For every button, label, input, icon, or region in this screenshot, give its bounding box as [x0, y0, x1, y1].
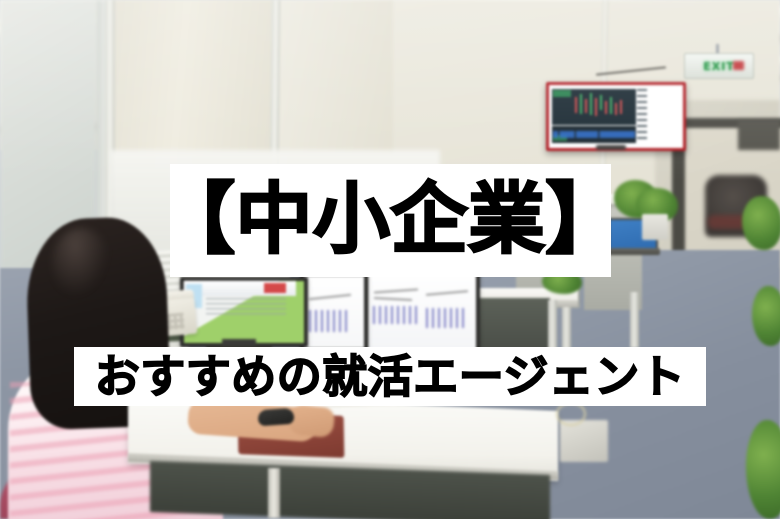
candlestick: [610, 97, 612, 114]
candlestick: [575, 97, 577, 113]
desk-leg: [630, 292, 639, 348]
tv-wall-mount: [596, 145, 626, 150]
candlestick: [580, 94, 582, 114]
monitor-right: [364, 268, 480, 354]
desk-leg: [268, 468, 280, 518]
exit-sign-label: EXIT: [703, 60, 735, 73]
pillar: [273, 0, 393, 170]
candlestick: [600, 95, 602, 110]
candlestick: [620, 100, 622, 114]
monitor-middle: [300, 272, 368, 352]
door-header: [738, 120, 780, 150]
candlestick: [615, 103, 617, 115]
computer-tower: [560, 420, 608, 462]
tv-price-scale: [637, 89, 647, 143]
candlestick: [605, 101, 607, 114]
exit-sign: EXIT: [684, 53, 754, 79]
plant-pot: [642, 214, 668, 240]
tv-line-series: [553, 131, 635, 138]
candlestick: [590, 93, 592, 115]
thumbnail-image: EXIT: [0, 0, 780, 519]
exit-sign-arrow: [733, 61, 744, 70]
monitor-webpage-text: [206, 298, 286, 316]
plant: [742, 196, 780, 250]
candlestick: [595, 98, 597, 116]
tv-green-bar: [553, 90, 571, 97]
person-hair-highlight: [52, 228, 110, 298]
wall-tv: [546, 82, 686, 151]
computer-mouse: [257, 408, 294, 426]
monitor-webpage-banner: [264, 283, 286, 293]
title-banner: 【中小企業】: [170, 164, 611, 277]
subtitle-banner: おすすめの就活エージェント: [74, 347, 706, 406]
candlestick: [585, 99, 587, 113]
